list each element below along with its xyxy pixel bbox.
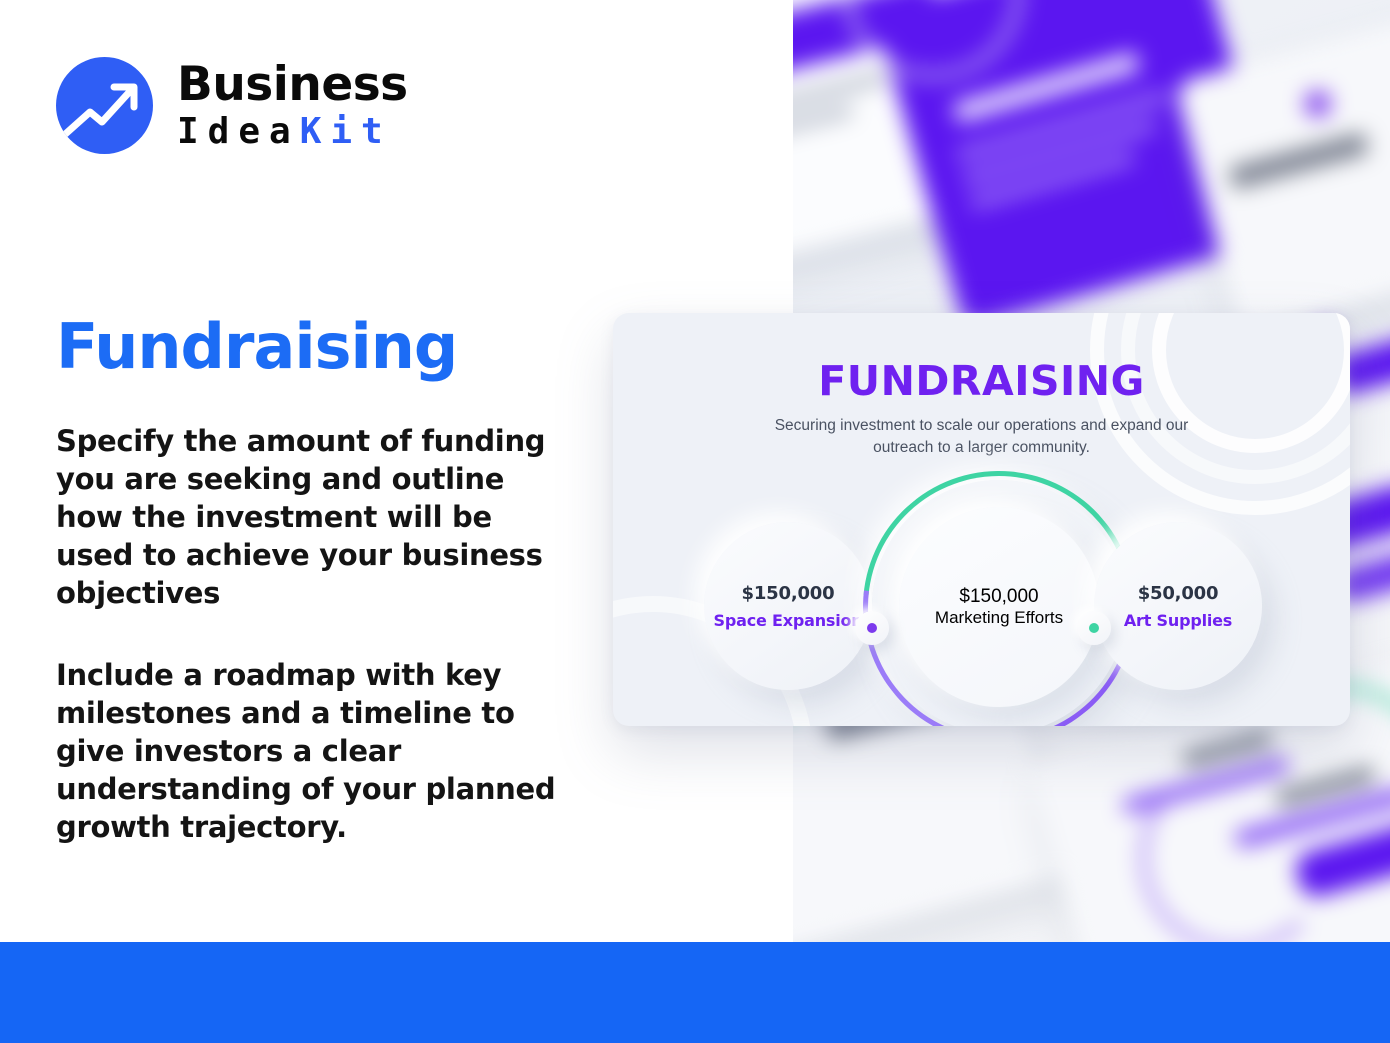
card-title: FUNDRAISING bbox=[613, 357, 1350, 405]
allocation-label: Space Expansion bbox=[714, 611, 863, 630]
allocation-amount: $150,000 bbox=[742, 583, 835, 604]
allocation-label: Art Supplies bbox=[1124, 611, 1232, 630]
body-paragraph-2: Include a roadmap with key milestones an… bbox=[56, 657, 576, 847]
fundraising-slide-card[interactable]: FUNDRAISING Securing investment to scale… bbox=[613, 313, 1350, 726]
allocation-circle-right[interactable]: $50,000 Art Supplies bbox=[1094, 522, 1262, 690]
connector-node-right bbox=[1077, 611, 1111, 645]
brand-wordmark: Business IdeaKit bbox=[177, 61, 408, 150]
brand-name-kit: Kit bbox=[300, 111, 392, 152]
card-subtitle: Securing investment to scale our operati… bbox=[772, 415, 1192, 459]
allocation-amount: $150,000 bbox=[959, 586, 1038, 608]
center-circle-inner: $150,000 Marketing Efforts bbox=[899, 507, 1099, 707]
brand-logo[interactable]: Business IdeaKit bbox=[56, 57, 737, 154]
decorative-rings-top-right bbox=[1090, 313, 1350, 515]
brand-name-top: Business bbox=[177, 61, 408, 108]
allocation-circles-group: $150,000 Space Expansion $150,000 Market… bbox=[613, 498, 1350, 713]
connector-node-left bbox=[855, 611, 889, 645]
footer-bar bbox=[0, 942, 1390, 1043]
brand-name-bottom: IdeaKit bbox=[177, 114, 408, 150]
allocation-circle-center[interactable]: $150,000 Marketing Efforts bbox=[872, 480, 1126, 726]
allocation-circle-left[interactable]: $150,000 Space Expansion bbox=[704, 522, 872, 690]
slide-page: Business IdeaKit Fundraising Specify the… bbox=[0, 0, 1390, 1043]
body-paragraph-1: Specify the amount of funding you are se… bbox=[56, 423, 576, 613]
brand-name-idea: Idea bbox=[177, 111, 300, 152]
allocation-label: Marketing Efforts bbox=[935, 608, 1063, 628]
allocation-amount: $50,000 bbox=[1138, 583, 1219, 604]
trending-up-arrow-icon bbox=[56, 57, 153, 154]
